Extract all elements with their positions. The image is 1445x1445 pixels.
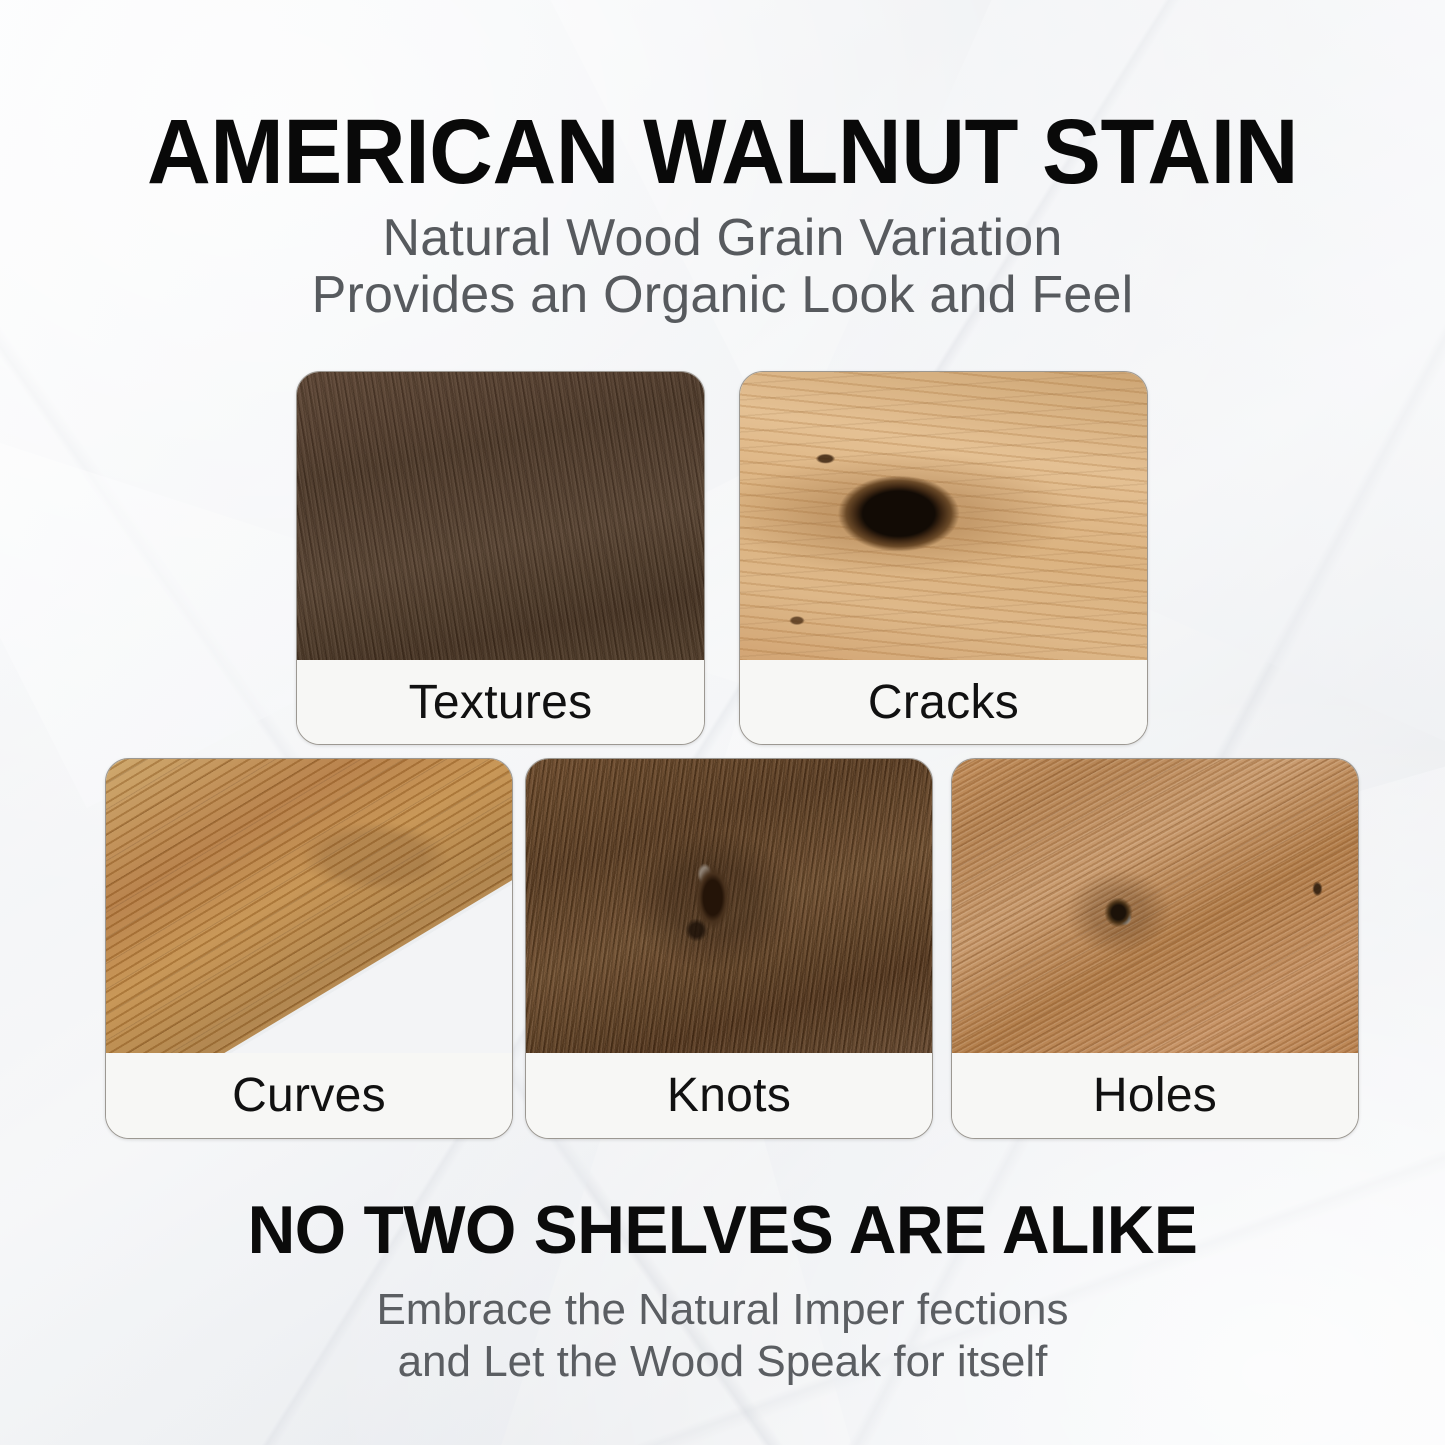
card-label-cracks: Cracks bbox=[740, 660, 1147, 744]
closing-line-1: Embrace the Natural Imper fections bbox=[0, 1284, 1445, 1336]
wood-swatch-knots bbox=[526, 759, 932, 1054]
feature-card-cracks: Cracks bbox=[739, 371, 1148, 745]
wood-swatch-textures bbox=[297, 372, 704, 661]
wood-swatch-curves bbox=[106, 759, 512, 1054]
card-label-holes: Holes bbox=[952, 1053, 1358, 1138]
closing-line-2: and Let the Wood Speak for itself bbox=[0, 1336, 1445, 1388]
footer-tagline: NO TWO SHELVES ARE ALIKE bbox=[22, 1193, 1424, 1267]
subtitle-line-2: Provides an Organic Look and Feel bbox=[0, 267, 1445, 324]
feature-card-knots: Knots bbox=[525, 758, 933, 1139]
card-label-curves: Curves bbox=[106, 1053, 512, 1138]
wood-swatch-cracks bbox=[740, 372, 1147, 661]
card-label-textures: Textures bbox=[297, 660, 704, 744]
page-subtitle: Natural Wood Grain Variation Provides an… bbox=[0, 210, 1445, 324]
infographic-page: AMERICAN WALNUT STAIN Natural Wood Grain… bbox=[0, 0, 1445, 1445]
footer-closing-text: Embrace the Natural Imper fections and L… bbox=[0, 1284, 1445, 1388]
card-label-knots: Knots bbox=[526, 1053, 932, 1138]
page-title: AMERICAN WALNUT STAIN bbox=[29, 104, 1416, 200]
feature-card-curves: Curves bbox=[105, 758, 513, 1139]
feature-card-holes: Holes bbox=[951, 758, 1359, 1139]
wood-swatch-holes bbox=[952, 759, 1358, 1054]
feature-card-textures: Textures bbox=[296, 371, 705, 745]
subtitle-line-1: Natural Wood Grain Variation bbox=[0, 210, 1445, 267]
